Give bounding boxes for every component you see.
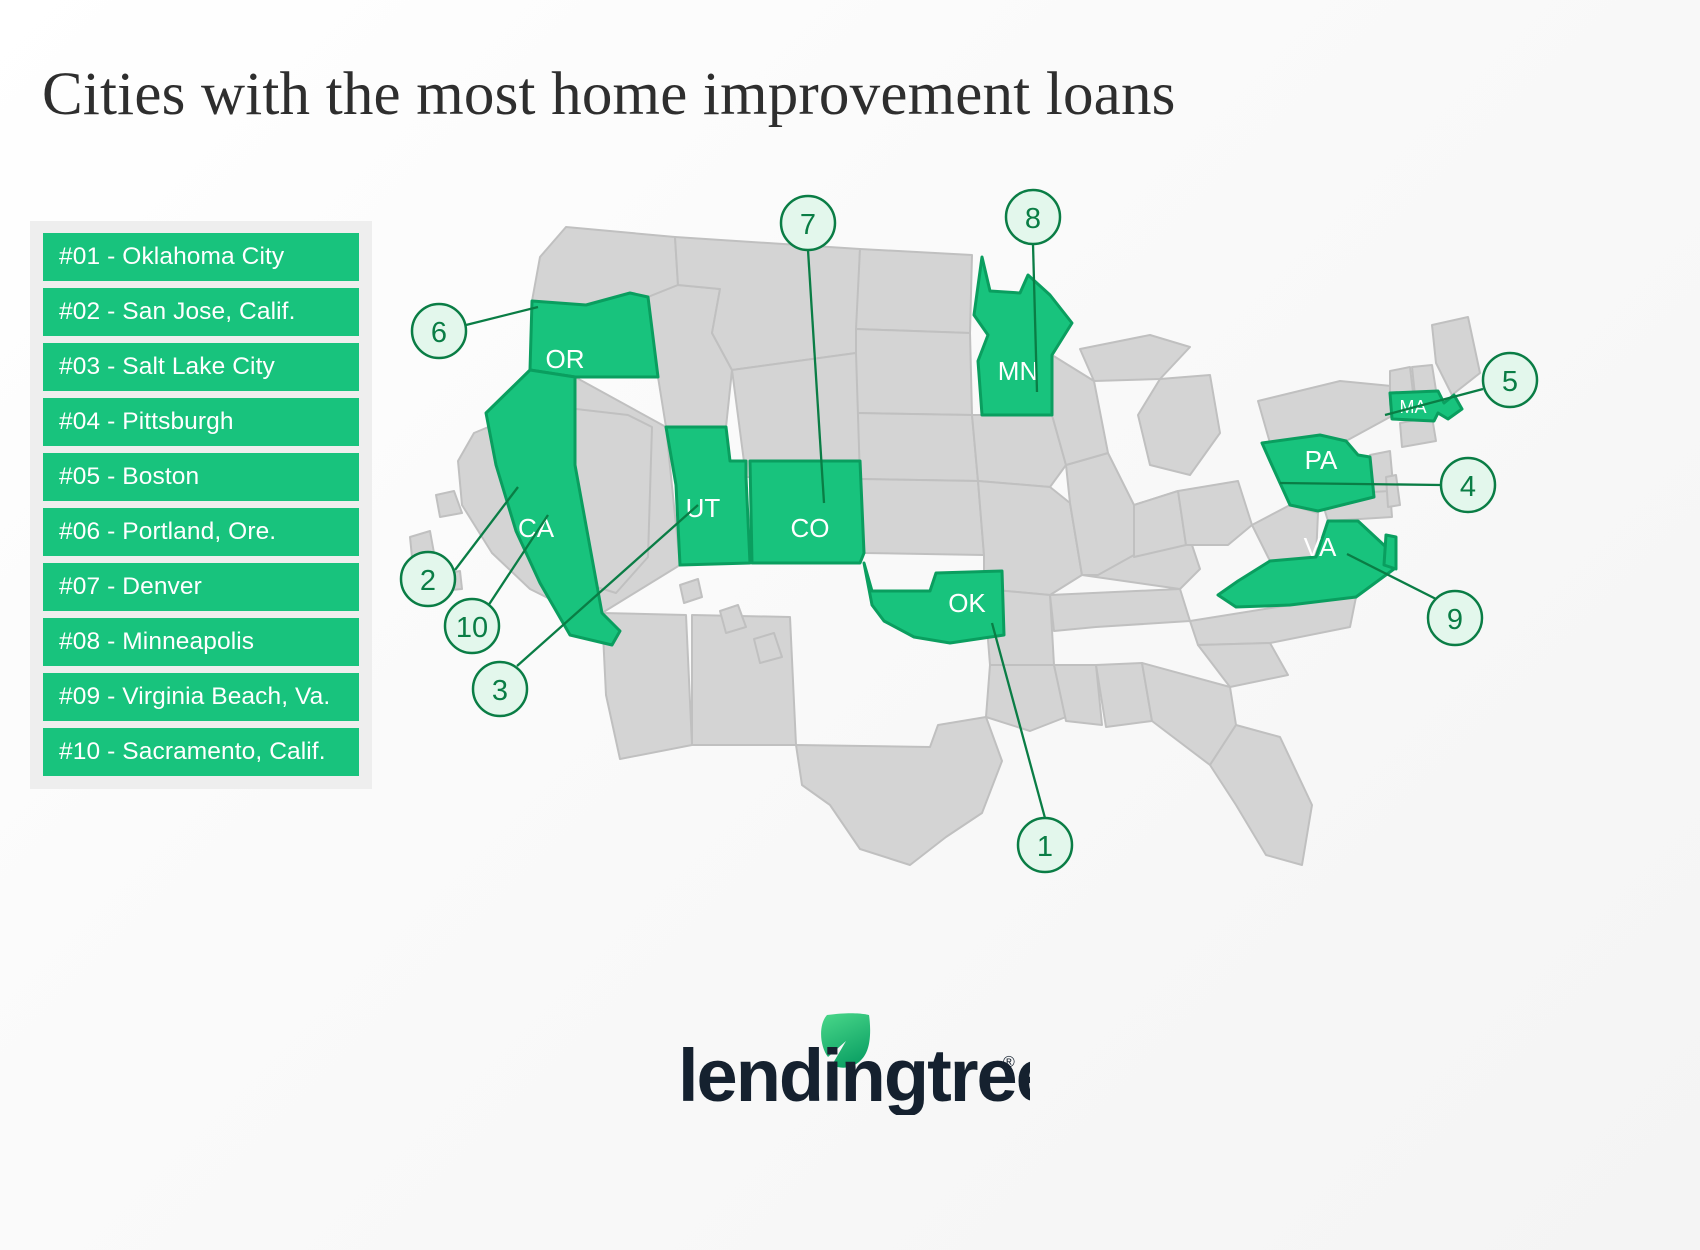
us-choropleth-map: OR CA UT CO OK MN PA VA MA 1 2 3 <box>390 165 1680 985</box>
legend-separator: - <box>107 353 115 380</box>
legend-separator: - <box>107 628 115 655</box>
list-item[interactable]: #10 - Sacramento, Calif. <box>43 728 359 776</box>
state-co-shape <box>750 461 864 563</box>
callout-marker-2[interactable]: 2 <box>401 552 455 606</box>
legend-rank: #06 <box>59 518 100 545</box>
legend-separator: - <box>107 298 115 325</box>
state-ne <box>852 413 978 481</box>
state-sd <box>856 329 972 415</box>
legend-city: Boston <box>122 463 199 490</box>
list-item[interactable]: #04 - Pittsburgh <box>43 398 359 446</box>
state-mi-low <box>1138 375 1220 475</box>
legend-separator: - <box>107 683 115 710</box>
state-sc <box>1198 643 1288 687</box>
legend-separator: - <box>107 243 115 270</box>
state-nm <box>692 615 796 745</box>
legend-city: Virginia Beach, Va. <box>122 683 330 710</box>
legend-separator: - <box>107 573 115 600</box>
legend-city: Minneapolis <box>122 628 254 655</box>
legend-separator: - <box>107 518 115 545</box>
state-oh <box>1178 481 1252 545</box>
state-mi-up <box>1080 335 1190 381</box>
callout-label: 3 <box>492 675 508 707</box>
state-label-mn: MN <box>998 356 1038 386</box>
list-item[interactable]: #07 - Denver <box>43 563 359 611</box>
callout-marker-4[interactable]: 4 <box>1441 458 1495 512</box>
callout-marker-5[interactable]: 5 <box>1483 353 1537 407</box>
legend-city: Sacramento, Calif. <box>122 738 325 765</box>
state-label-pa: PA <box>1305 445 1338 475</box>
callout-marker-7[interactable]: 7 <box>781 196 835 250</box>
list-item[interactable]: #01 - Oklahoma City <box>43 233 359 281</box>
callout-label: 10 <box>456 612 488 644</box>
legend-city: Pittsburgh <box>122 408 233 435</box>
state-de <box>1386 475 1400 507</box>
list-item[interactable]: #05 - Boston <box>43 453 359 501</box>
ranked-cities-legend: #01 - Oklahoma City #02 - San Jose, Cali… <box>30 221 372 789</box>
legend-city: Oklahoma City <box>122 243 284 270</box>
logo-trademark: ® <box>1003 1054 1015 1071</box>
legend-rank: #10 <box>59 738 100 765</box>
logo-wordmark: lendingtree <box>678 1034 1030 1115</box>
list-item[interactable]: #08 - Minneapolis <box>43 618 359 666</box>
page-title: Cities with the most home improvement lo… <box>42 60 1176 130</box>
legend-rank: #01 <box>59 243 100 270</box>
legend-rank: #09 <box>59 683 100 710</box>
legend-rank: #07 <box>59 573 100 600</box>
callout-label: 8 <box>1025 203 1041 235</box>
callout-label: 4 <box>1460 471 1476 503</box>
legend-city: Denver <box>122 573 202 600</box>
callout-label: 1 <box>1037 831 1053 863</box>
legend-rank: #02 <box>59 298 100 325</box>
legend-city: San Jose, Calif. <box>122 298 295 325</box>
state-ia <box>972 415 1066 487</box>
callout-label: 6 <box>431 317 447 349</box>
legend-separator: - <box>107 463 115 490</box>
callout-marker-8[interactable]: 8 <box>1006 190 1060 244</box>
callout-marker-6[interactable]: 6 <box>412 304 466 358</box>
list-item[interactable]: #09 - Virginia Beach, Va. <box>43 673 359 721</box>
state-label-or: OR <box>546 344 585 374</box>
legend-separator: - <box>107 738 115 765</box>
callout-label: 7 <box>800 209 816 241</box>
state-label-ca: CA <box>518 513 555 543</box>
leader-line-6 <box>466 307 538 325</box>
callout-label: 2 <box>420 565 436 597</box>
state-ks <box>860 479 984 555</box>
state-fl <box>1210 725 1312 865</box>
state-me <box>1432 317 1480 395</box>
state-in-2 <box>1134 491 1186 557</box>
state-label-va: VA <box>1304 532 1337 562</box>
callout-label: 9 <box>1447 604 1463 636</box>
state-label-ut: UT <box>686 493 721 523</box>
state-tn <box>1050 589 1190 631</box>
callout-marker-1[interactable]: 1 <box>1018 818 1072 872</box>
callout-marker-3[interactable]: 3 <box>473 662 527 716</box>
callout-marker-9[interactable]: 9 <box>1428 591 1482 645</box>
state-va-dmv <box>1384 535 1396 569</box>
legend-rank: #04 <box>59 408 100 435</box>
state-ny <box>1258 381 1402 443</box>
legend-rank: #05 <box>59 463 100 490</box>
state-nd <box>856 249 972 333</box>
callout-label: 5 <box>1502 366 1518 398</box>
list-item[interactable]: #06 - Portland, Ore. <box>43 508 359 556</box>
legend-rank: #08 <box>59 628 100 655</box>
legend-rank: #03 <box>59 353 100 380</box>
state-label-ok: OK <box>948 588 986 618</box>
legend-separator: - <box>107 408 115 435</box>
legend-city: Portland, Ore. <box>122 518 276 545</box>
lendingtree-logo: lendingtree ® <box>0 1005 1700 1120</box>
state-label-co: CO <box>791 513 830 543</box>
list-item[interactable]: #03 - Salt Lake City <box>43 343 359 391</box>
state-tx <box>796 717 1002 865</box>
list-item[interactable]: #02 - San Jose, Calif. <box>43 288 359 336</box>
state-la <box>986 665 1066 731</box>
legend-city: Salt Lake City <box>122 353 275 380</box>
callout-marker-10[interactable]: 10 <box>445 599 499 653</box>
